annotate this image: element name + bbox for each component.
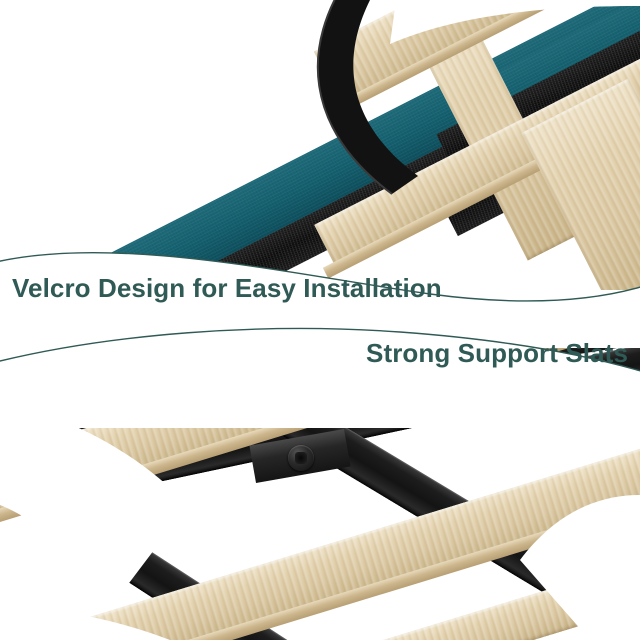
caption-strong-support-slats: Strong Support Slats <box>366 338 628 368</box>
photo-canvas-bottom <box>0 345 640 640</box>
hex-bolt-1 <box>318 385 344 411</box>
photo-white-mask-bottom-right <box>400 345 640 640</box>
photo-canvas-top <box>0 0 640 290</box>
caption-velcro-design: Velcro Design for Easy Installation <box>12 273 442 303</box>
velcro-detail-photo <box>0 0 640 290</box>
slat-support-photo <box>0 345 640 640</box>
product-feature-collage: Velcro Design for Easy Installation Stro… <box>0 0 640 640</box>
hex-bolt-2 <box>354 375 380 401</box>
photo-white-mask-top-right <box>330 0 640 60</box>
photo-white-mask-bottom-strip <box>0 595 260 640</box>
